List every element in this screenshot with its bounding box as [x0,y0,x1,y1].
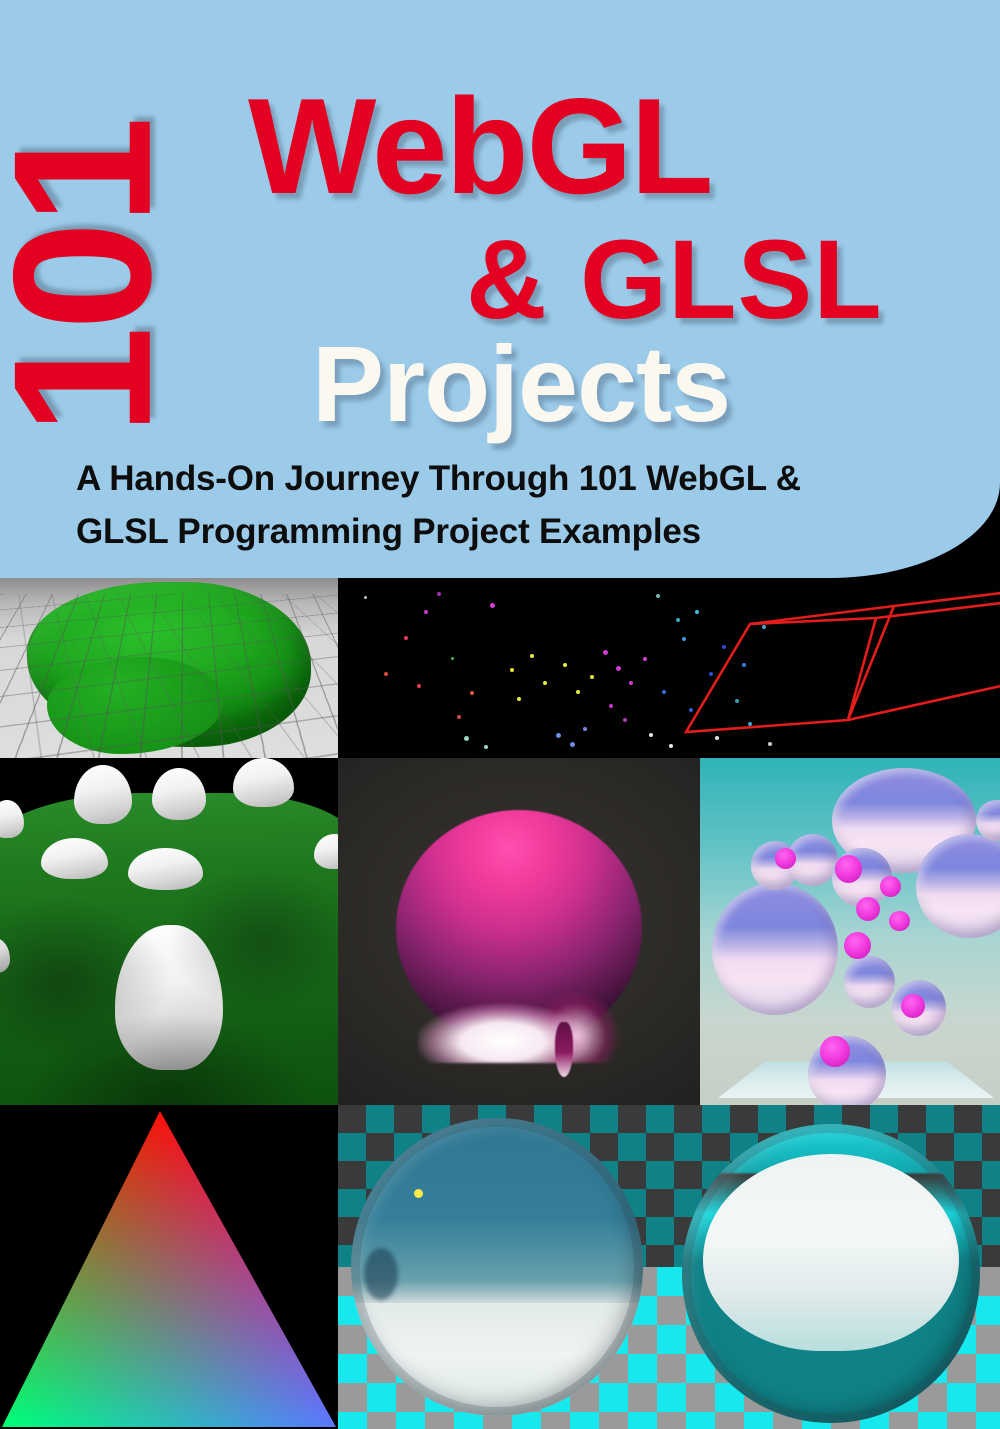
particle-point [464,736,469,741]
pink-detail-sphere [889,911,910,932]
panel-terrain [0,758,338,1105]
particle-point [590,675,594,679]
rgb-triangle-render [0,1105,338,1429]
terrain-shading [0,758,338,1105]
panel-glass-spheres [338,1105,1000,1429]
pink-detail-sphere [856,897,880,921]
particle-point [437,592,441,596]
pink-detail-sphere [775,848,796,869]
particle-point [384,672,388,676]
panel-melting-sphere [338,758,700,1105]
particle-point [662,690,666,694]
title-block: 101 WebGL & GLSL Projects A Hands-On Jou… [0,0,1000,578]
pink-detail-sphere [820,1036,850,1067]
title-webgl-text: WebGL [248,70,711,222]
particle-point [583,727,587,731]
voxel-wireframe-grid [0,594,338,758]
particle-point [404,636,408,640]
particle-point [530,654,534,658]
particle-point [470,691,474,695]
particle-point [669,744,673,748]
particle-point [457,715,461,719]
particle-point [484,745,488,749]
particle-point [643,657,647,661]
melt-puddle [418,966,621,1063]
pink-detail-sphere [880,876,901,897]
particle-point [570,742,575,747]
title-glsl: & GLSL [466,224,883,336]
panel-rgb-triangle [0,1105,338,1429]
panel-reflective-spheres [700,758,1000,1105]
particle-point [609,704,613,708]
panel-metaball-grid [0,578,338,758]
particle-point [623,718,627,722]
particle-point [417,684,421,688]
particle-point [676,618,680,622]
particle-point [517,697,521,701]
chrome-sphere [712,883,838,1015]
particle-point [616,666,621,671]
glass-sphere-right [682,1124,980,1422]
subtitle-line-1: A Hands-On Journey Through 101 WebGL & [76,452,936,505]
particle-point [451,657,454,660]
particle-point [510,668,514,672]
pink-detail-sphere [901,994,925,1018]
particle-point [556,733,561,738]
glass-caustic-shadow [364,1248,398,1300]
cover-header-panel: 101 WebGL & GLSL Projects A Hands-On Jou… [0,0,1000,578]
particle-point [603,650,608,655]
particle-point [656,594,660,598]
panel-particle-field [338,578,1000,758]
particle-point [563,663,567,667]
particle-point [543,681,547,685]
melt-drip [555,1022,573,1078]
red-wireframe-cube-icon [680,580,1000,756]
chrome-sphere [844,956,895,1008]
particle-point [424,610,428,614]
title-number-101: 101 [0,125,167,435]
subtitle-line-2: GLSL Programming Project Examples [76,505,936,558]
particle-point [629,681,633,685]
glass-rim-highlight [682,1124,980,1422]
particle-point [576,690,580,694]
particle-point [649,733,653,737]
cover-subtitle: A Hands-On Journey Through 101 WebGL & G… [76,452,936,558]
title-webgl: WebGL [248,78,711,214]
pink-detail-sphere [835,855,862,883]
book-cover: 101 WebGL & GLSL Projects A Hands-On Jou… [0,0,1000,1429]
title-projects: Projects [312,330,730,438]
pink-detail-sphere [844,932,871,960]
particle-point [364,596,367,599]
particle-point [490,603,495,608]
